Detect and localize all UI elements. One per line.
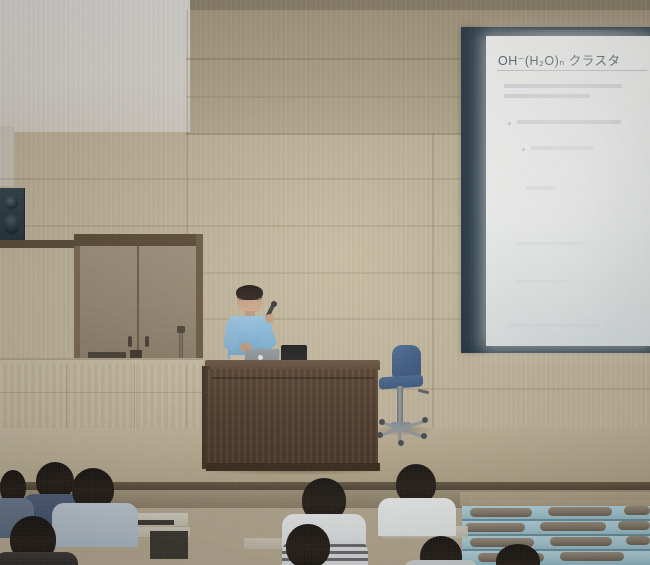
counter-object — [130, 350, 142, 358]
office-chair-post — [397, 386, 403, 426]
audience-member-body — [404, 560, 478, 565]
door-handle-right[interactable] — [145, 336, 149, 347]
speaker-woofer-icon — [4, 214, 19, 234]
projection-screen: OH⁻(H₂O)ₙ クラスタ — [486, 36, 650, 346]
slide-body-line — [504, 94, 590, 98]
seat-backrest[interactable] — [626, 536, 650, 545]
glasses-icon — [239, 299, 260, 304]
audience-desk-panel — [150, 531, 188, 559]
slide-bullet-dot — [508, 122, 511, 125]
presenter-right-hand — [265, 314, 274, 323]
seat-backrest[interactable] — [618, 521, 650, 530]
seat-backrest[interactable] — [465, 523, 525, 532]
wall-vertical-seam — [432, 134, 434, 428]
slide-bullet-dot — [522, 148, 525, 151]
wall-speaker-icon — [0, 188, 25, 246]
office-chair-caster — [422, 417, 428, 423]
audience-member-head — [286, 524, 330, 565]
office-chair-caster — [398, 440, 404, 446]
seat-backrest[interactable] — [548, 507, 612, 516]
door-header-beam — [74, 234, 202, 246]
audience-member-body — [378, 498, 456, 536]
podium-reveal-line — [212, 377, 374, 379]
slide-title-rule — [497, 70, 647, 71]
slide-body-line — [517, 120, 621, 124]
seat-backrest[interactable] — [624, 506, 650, 515]
seat-backrest[interactable] — [550, 537, 612, 546]
seat-backrest[interactable] — [540, 522, 606, 531]
slide-body-line — [516, 242, 586, 245]
left-pale-wall-strip — [0, 126, 14, 186]
lecture-hall-photo: OH⁻(H₂O)ₙ クラスタ — [0, 0, 650, 565]
audience-member-body — [0, 552, 78, 565]
podium-wood-grain — [208, 369, 378, 469]
slide-body-line — [531, 146, 593, 150]
slide-body-line — [504, 84, 622, 88]
slide-body-line — [516, 280, 568, 283]
seat-backrest[interactable] — [470, 508, 532, 517]
door-right[interactable] — [139, 246, 197, 368]
door-handle-left[interactable] — [128, 336, 132, 347]
wall-pipe-fitting — [177, 326, 185, 333]
alcove-right-edge — [196, 234, 203, 368]
presenter-hair — [236, 285, 263, 300]
counter-seam — [0, 392, 203, 393]
office-chair-caster — [421, 433, 427, 439]
office-chair-caster — [379, 419, 385, 425]
slide-title: OH⁻(H₂O)ₙ クラスタ — [498, 50, 620, 69]
podium-shadow — [200, 466, 390, 475]
microphone-head-icon — [271, 301, 277, 307]
left-pale-wall — [0, 0, 190, 132]
seat-backrest[interactable] — [560, 552, 624, 561]
slide-body-line — [526, 186, 556, 190]
slide-body-line — [508, 324, 600, 327]
speaker-shelf — [0, 240, 76, 248]
audience-member-body — [52, 503, 138, 547]
speaker-tweeter-icon — [5, 196, 18, 209]
